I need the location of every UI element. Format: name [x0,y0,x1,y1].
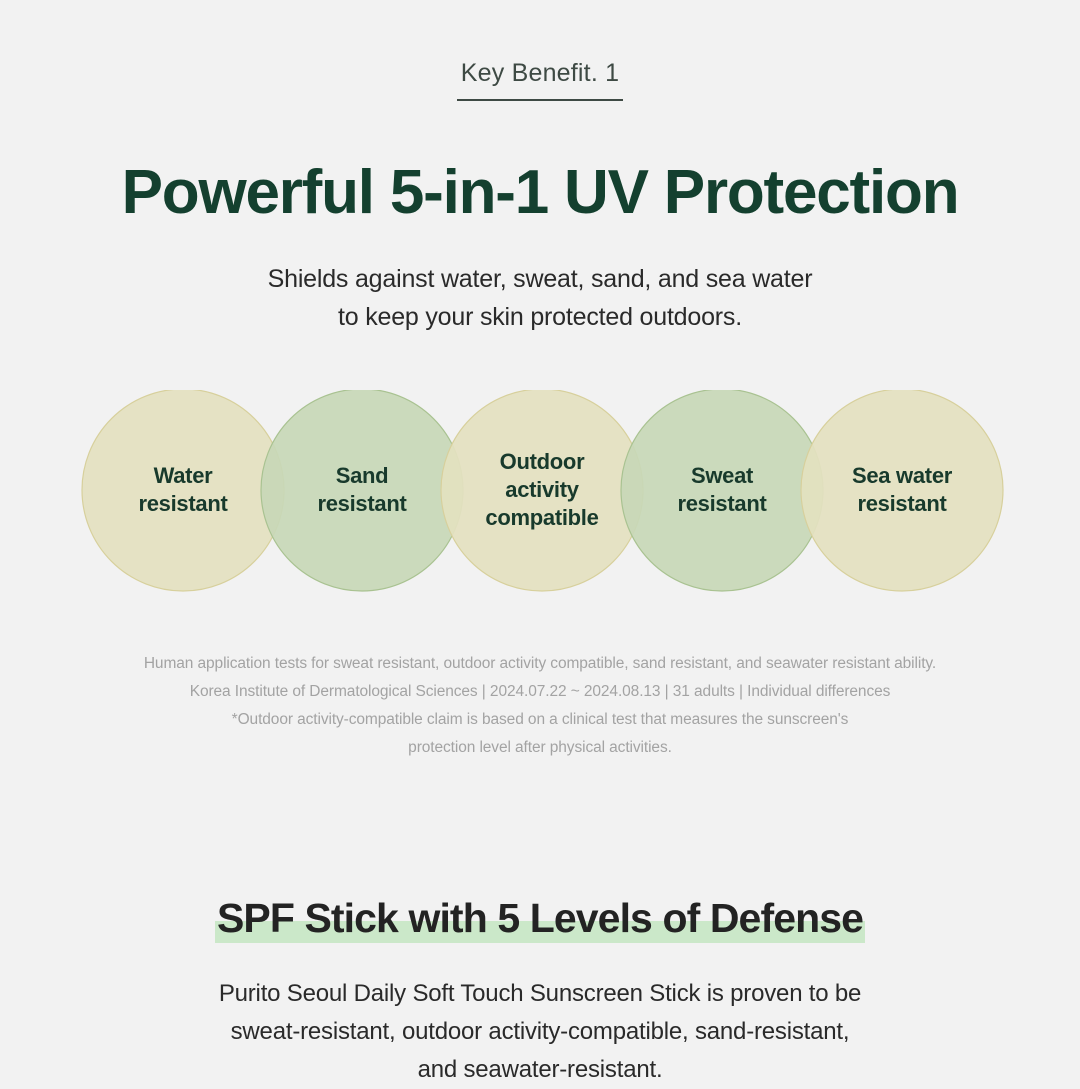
hero-subtitle-line-1: Shields against water, sweat, sand, and … [0,260,1080,298]
page-title: Powerful 5-in-1 UV Protection [0,155,1080,231]
hero-subtitle: Shields against water, sweat, sand, and … [0,260,1080,336]
disclaimer-line-3: *Outdoor activity-compatible claim is ba… [0,706,1080,734]
section-two-title-text: SPF Stick with 5 Levels of Defense [217,895,863,941]
hero-subtitle-line-2: to keep your skin protected outdoors. [0,298,1080,336]
venn-label-sea-water-line-2: resistant [807,490,997,518]
key-benefit-eyebrow: Key Benefit. 1 [457,56,623,101]
disclaimer-line-1: Human application tests for sweat resist… [0,650,1080,678]
highlighted-heading: SPF Stick with 5 Levels of Defense [215,890,865,946]
venn-label-outdoor-line-2: activity [447,476,637,504]
section-two-body-line-3: and seawater-resistant. [0,1051,1080,1089]
section-two-body-line-2: sweat-resistant, outdoor activity-compat… [0,1013,1080,1051]
benefit-circles-diagram: Water resistant Sand resistant Outdoor a… [0,390,1080,590]
venn-label-outdoor: Outdoor activity compatible [447,448,637,532]
venn-label-outdoor-line-1: Outdoor [447,448,637,476]
venn-label-sand: Sand resistant [267,462,457,518]
venn-label-sea-water: Sea water resistant [807,462,997,518]
venn-label-sand-line-2: resistant [267,490,457,518]
section-two-body-line-1: Purito Seoul Daily Soft Touch Sunscreen … [0,975,1080,1013]
venn-label-water-line-2: resistant [88,490,278,518]
disclaimer-line-4: protection level after physical activiti… [0,734,1080,762]
venn-label-water-line-1: Water [88,462,278,490]
eyebrow-container: Key Benefit. 1 [0,56,1080,101]
venn-label-water: Water resistant [88,462,278,518]
venn-label-sea-water-line-1: Sea water [807,462,997,490]
venn-label-sweat-line-2: resistant [627,490,817,518]
venn-label-outdoor-line-3: compatible [447,504,637,532]
venn-label-sand-line-1: Sand [267,462,457,490]
venn-label-sweat: Sweat resistant [627,462,817,518]
venn-label-sweat-line-1: Sweat [627,462,817,490]
disclaimer-line-2: Korea Institute of Dermatological Scienc… [0,678,1080,706]
clinical-disclaimer: Human application tests for sweat resist… [0,650,1080,762]
section-two-title: SPF Stick with 5 Levels of Defense [0,890,1080,946]
section-two-body: Purito Seoul Daily Soft Touch Sunscreen … [0,975,1080,1089]
